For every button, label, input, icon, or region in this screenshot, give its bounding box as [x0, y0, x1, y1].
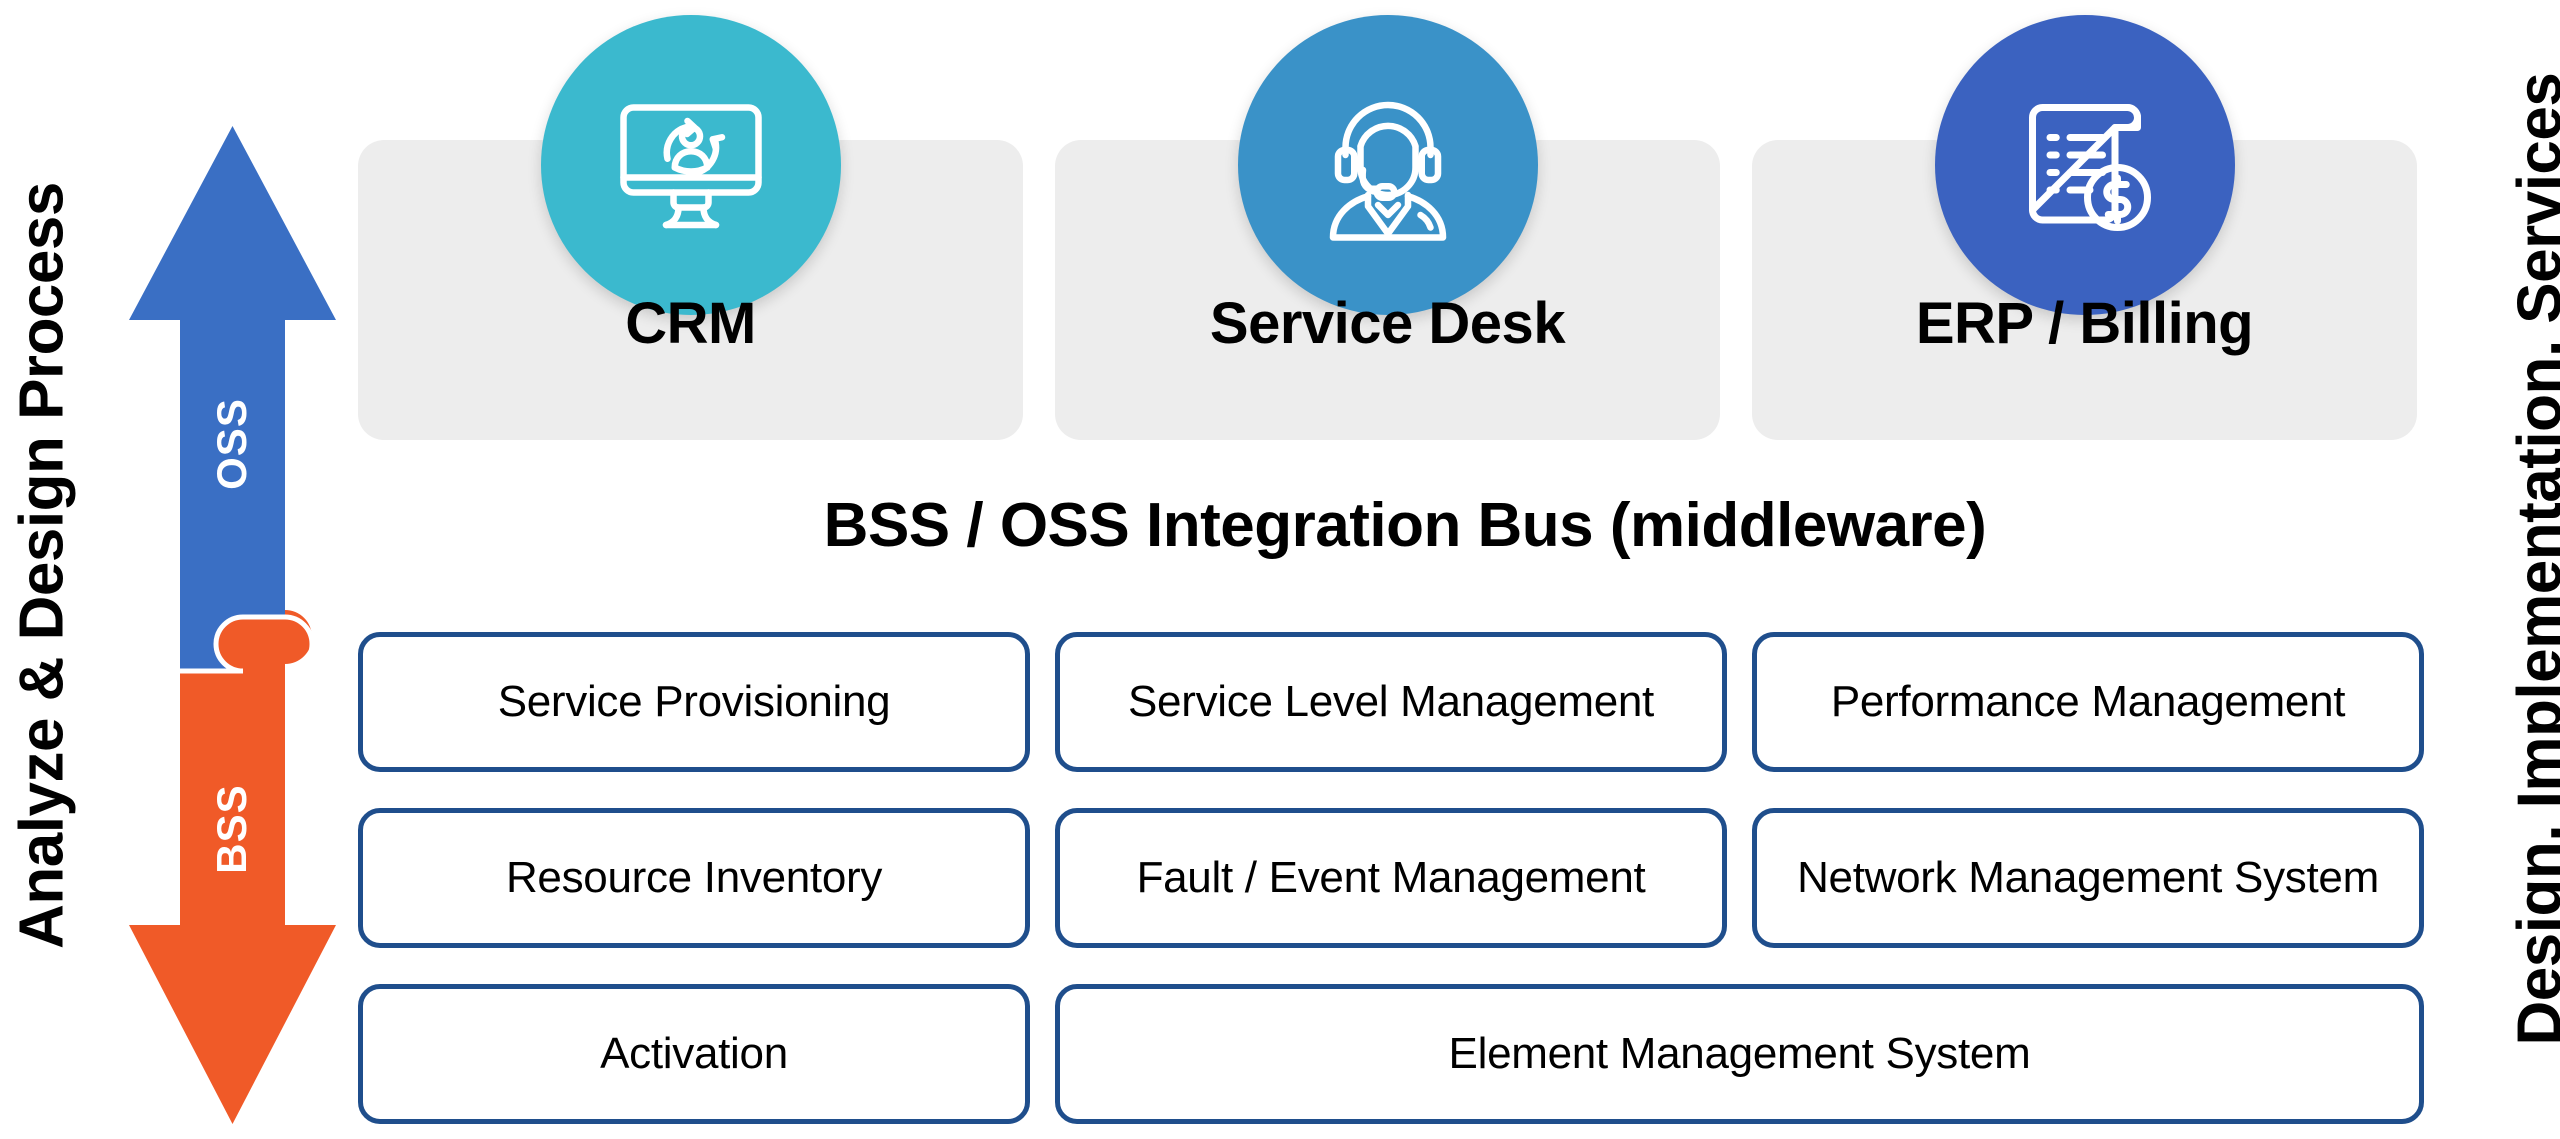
diagram-canvas: Analyze & Design Process Design, Impleme…	[0, 0, 2560, 1139]
double-arrow-shape	[125, 120, 340, 1130]
arrow-label-oss: OSS	[208, 344, 256, 544]
function-box-resource-inventory[interactable]: Resource Inventory	[358, 808, 1030, 948]
function-box-label: Performance Management	[1817, 678, 2359, 726]
system-card-erp-billing[interactable]: ERP / Billing	[1752, 140, 2417, 440]
invoice-dollar-icon	[2005, 85, 2165, 245]
function-box-label: Service Provisioning	[484, 678, 905, 726]
erp-billing-badge	[1935, 15, 2235, 315]
function-box-label: Element Management System	[1435, 1030, 2045, 1078]
function-box-service-level-management[interactable]: Service Level Management	[1055, 632, 1727, 772]
function-box-network-management-system[interactable]: Network Management System	[1752, 808, 2424, 948]
function-box-service-provisioning[interactable]: Service Provisioning	[358, 632, 1030, 772]
function-box-label: Activation	[586, 1030, 802, 1078]
arrow-label-bss: BSS	[208, 729, 256, 929]
function-boxes-grid: Service Provisioning Service Level Manag…	[358, 632, 2453, 1132]
oss-bss-bidirectional-arrow: OSS BSS	[125, 120, 340, 1130]
function-box-label: Fault / Event Management	[1123, 854, 1660, 902]
crm-badge	[541, 15, 841, 315]
system-card-title-crm: CRM	[358, 290, 1023, 357]
function-box-label: Network Management System	[1783, 854, 2393, 902]
function-box-performance-management[interactable]: Performance Management	[1752, 632, 2424, 772]
integration-bus-title: BSS / OSS Integration Bus (middleware)	[360, 490, 2450, 561]
function-box-label: Resource Inventory	[492, 854, 896, 902]
system-card-service-desk[interactable]: Service Desk	[1055, 140, 1720, 440]
service-desk-badge	[1238, 15, 1538, 315]
right-axis-caption: Design, Implementation, Services	[2505, 86, 2560, 1046]
system-card-title-service-desk: Service Desk	[1055, 290, 1720, 357]
headset-agent-icon	[1308, 85, 1468, 245]
system-card-crm[interactable]: CRM	[358, 140, 1023, 440]
function-box-activation[interactable]: Activation	[358, 984, 1030, 1124]
system-card-title-erp-billing: ERP / Billing	[1752, 290, 2417, 357]
crm-monitor-user-icon	[611, 85, 771, 245]
function-box-label: Service Level Management	[1114, 678, 1668, 726]
left-axis-caption: Analyze & Design Process	[7, 116, 78, 1016]
function-box-fault-event-management[interactable]: Fault / Event Management	[1055, 808, 1727, 948]
function-box-element-management-system[interactable]: Element Management System	[1055, 984, 2424, 1124]
